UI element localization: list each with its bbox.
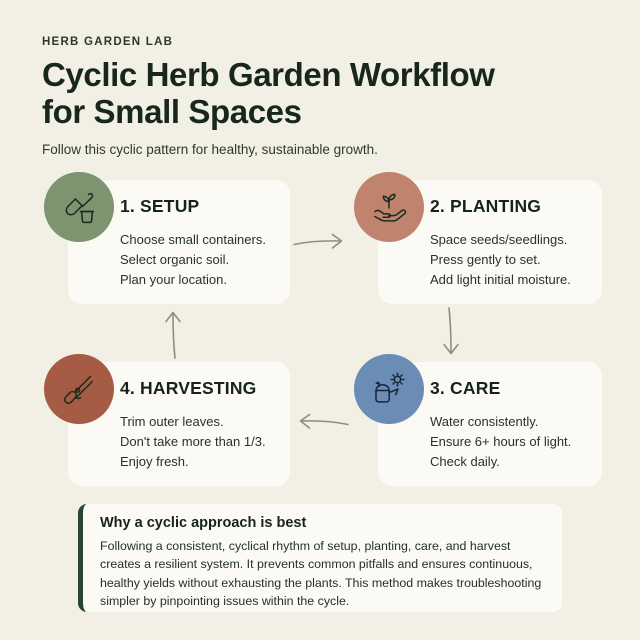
arrow-setup-to-planting	[292, 228, 350, 263]
arrow-harvesting-to-setup	[158, 306, 188, 365]
step-badge-setup	[44, 172, 114, 242]
step-badge-planting	[354, 172, 424, 242]
step-description-harvesting: Trim outer leaves. Don't take more than …	[120, 412, 272, 472]
step-description-planting: Space seeds/seedlings. Press gently to s…	[430, 230, 584, 290]
arrow-care-to-harvesting	[292, 408, 350, 443]
eyebrow-label: HERB GARDEN LAB	[42, 36, 602, 48]
step-title-care: 3. CARE	[430, 378, 584, 399]
step-title-harvesting: 4. HARVESTING	[120, 378, 272, 399]
trowel-and-pot-icon	[59, 187, 99, 227]
callout-box: Why a cyclic approach is best Following …	[78, 504, 562, 612]
page-header: HERB GARDEN LAB Cyclic Herb Garden Workf…	[42, 36, 602, 157]
page-title: Cyclic Herb Garden Workflow for Small Sp…	[42, 56, 602, 131]
callout-body: Following a consistent, cyclical rhythm …	[100, 537, 544, 610]
step-description-setup: Choose small containers. Select organic …	[120, 230, 272, 290]
step-title-setup: 1. SETUP	[120, 196, 272, 217]
step-title-planting: 2. PLANTING	[430, 196, 584, 217]
step-description-care: Water consistently. Ensure 6+ hours of l…	[430, 412, 584, 472]
callout-title: Why a cyclic approach is best	[100, 515, 544, 531]
pruning-shears-icon	[59, 369, 99, 409]
hand-holding-sprout-icon	[369, 187, 409, 227]
step-badge-care	[354, 354, 424, 424]
page-subtitle: Follow this cyclic pattern for healthy, …	[42, 142, 602, 157]
watering-can-and-sun-icon	[368, 368, 410, 410]
step-badge-harvesting	[44, 354, 114, 424]
arrow-planting-to-care	[436, 306, 466, 365]
